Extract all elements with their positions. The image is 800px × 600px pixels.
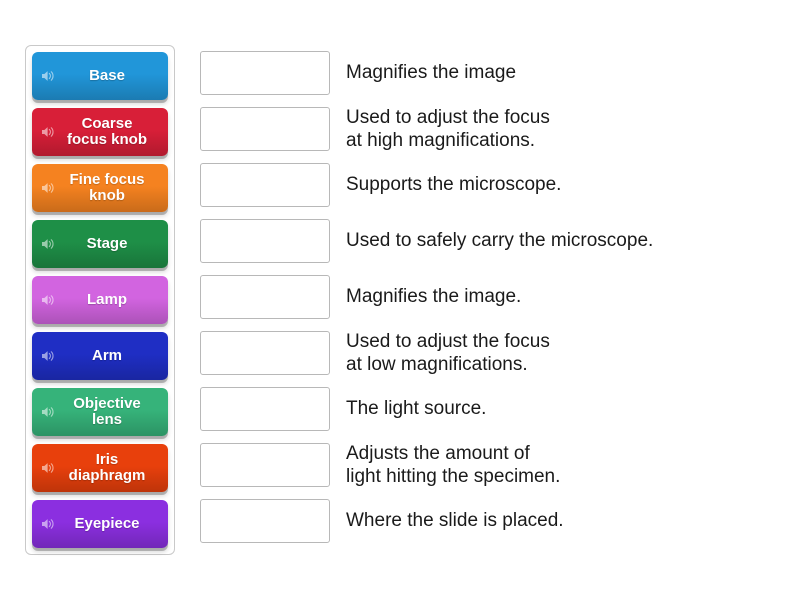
drop-zone[interactable]: [200, 219, 330, 263]
answer-text: Where the slide is placed.: [330, 509, 780, 532]
answer-row: Supports the microscope.: [200, 157, 780, 213]
drop-zone[interactable]: [200, 387, 330, 431]
answer-row: Magnifies the image: [200, 45, 780, 101]
tile-label: Stage: [67, 236, 134, 252]
answer-row: Magnifies the image.: [200, 269, 780, 325]
speaker-icon[interactable]: [40, 404, 56, 420]
speaker-icon[interactable]: [40, 124, 56, 140]
tile-label: Iris diaphragm: [49, 452, 152, 484]
tile-label: Base: [69, 68, 131, 84]
draggable-tile[interactable]: Fine focus knob: [32, 164, 168, 212]
answer-row: Used to safely carry the microscope.: [200, 213, 780, 269]
drop-zone[interactable]: [200, 107, 330, 151]
answer-text: Supports the microscope.: [330, 173, 780, 196]
draggable-tile[interactable]: Eyepiece: [32, 500, 168, 548]
speaker-icon[interactable]: [40, 516, 56, 532]
tile-label: Eyepiece: [54, 516, 145, 532]
drop-zone[interactable]: [200, 443, 330, 487]
answer-text: Used to safely carry the microscope.: [330, 229, 780, 252]
draggable-tile[interactable]: Iris diaphragm: [32, 444, 168, 492]
draggable-tile[interactable]: Coarse focus knob: [32, 108, 168, 156]
speaker-icon[interactable]: [40, 68, 56, 84]
draggable-tile[interactable]: Stage: [32, 220, 168, 268]
tile-label: Lamp: [67, 292, 133, 308]
answer-panel: Magnifies the imageUsed to adjust the fo…: [200, 45, 780, 549]
draggable-tile[interactable]: Objective lens: [32, 388, 168, 436]
answer-text: Adjusts the amount of light hitting the …: [330, 442, 780, 488]
answer-row: Used to adjust the focus at high magnifi…: [200, 101, 780, 157]
answer-row: Adjusts the amount of light hitting the …: [200, 437, 780, 493]
answer-row: The light source.: [200, 381, 780, 437]
answer-text: The light source.: [330, 397, 780, 420]
answer-text: Used to adjust the focus at high magnifi…: [330, 106, 780, 152]
answer-text: Magnifies the image: [330, 61, 780, 84]
speaker-icon[interactable]: [40, 236, 56, 252]
draggable-tile[interactable]: Base: [32, 52, 168, 100]
tile-label: Coarse focus knob: [47, 116, 153, 148]
draggable-tile[interactable]: Lamp: [32, 276, 168, 324]
answer-text: Magnifies the image.: [330, 285, 780, 308]
draggable-tile[interactable]: Arm: [32, 332, 168, 380]
speaker-icon[interactable]: [40, 292, 56, 308]
speaker-icon[interactable]: [40, 180, 56, 196]
drop-zone[interactable]: [200, 275, 330, 319]
tile-label: Objective lens: [53, 396, 147, 428]
drop-zone[interactable]: [200, 163, 330, 207]
drop-zone[interactable]: [200, 331, 330, 375]
speaker-icon[interactable]: [40, 460, 56, 476]
answer-text: Used to adjust the focus at low magnific…: [330, 330, 780, 376]
tile-label: Fine focus knob: [49, 172, 150, 204]
answer-row: Where the slide is placed.: [200, 493, 780, 549]
speaker-icon[interactable]: [40, 348, 56, 364]
draggable-tile-panel: BaseCoarse focus knobFine focus knobStag…: [25, 45, 175, 555]
drop-zone[interactable]: [200, 499, 330, 543]
answer-row: Used to adjust the focus at low magnific…: [200, 325, 780, 381]
match-up-activity: BaseCoarse focus knobFine focus knobStag…: [0, 0, 800, 600]
tile-label: Arm: [72, 348, 128, 364]
drop-zone[interactable]: [200, 51, 330, 95]
